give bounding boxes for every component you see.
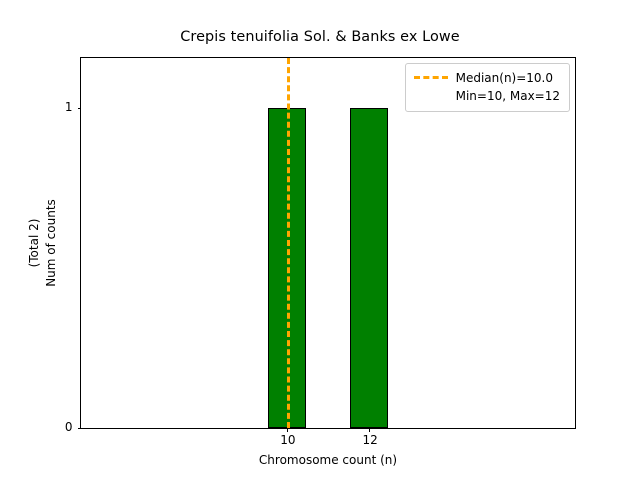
legend-label-median: Median(n)=10.0 [456,69,560,87]
x-axis-tick-label: 12 [340,433,400,447]
y-axis-tick-label: 1 [65,100,73,114]
y-axis-label-line1: Num of counts [43,199,60,287]
median-line-legend-swatch [414,76,448,79]
plot-area: Median(n)=10.0 Min=10, Max=12 011012 [80,57,576,429]
bar [350,108,388,428]
chart-figure: Crepis tenuifolia Sol. & Banks ex Lowe M… [0,0,640,480]
x-axis-tick: 12 [369,428,370,432]
x-axis-tick-label: 10 [258,433,318,447]
chart-legend: Median(n)=10.0 Min=10, Max=12 [405,63,570,112]
y-axis-label-line2: (Total 2) [26,219,43,268]
legend-label-range: Min=10, Max=12 [456,87,560,105]
y-axis-tick: 0 [78,428,82,429]
median-line [287,58,290,428]
y-axis-label: (Total 2) Num of counts [26,57,66,429]
x-axis-label: Chromosome count (n) [80,453,576,467]
x-axis-tick: 10 [287,428,288,432]
y-axis-tick: 1 [78,108,82,109]
chart-title: Crepis tenuifolia Sol. & Banks ex Lowe [0,29,640,45]
y-axis-tick-label: 0 [65,420,73,434]
legend-label-group: Median(n)=10.0 Min=10, Max=12 [456,69,560,105]
